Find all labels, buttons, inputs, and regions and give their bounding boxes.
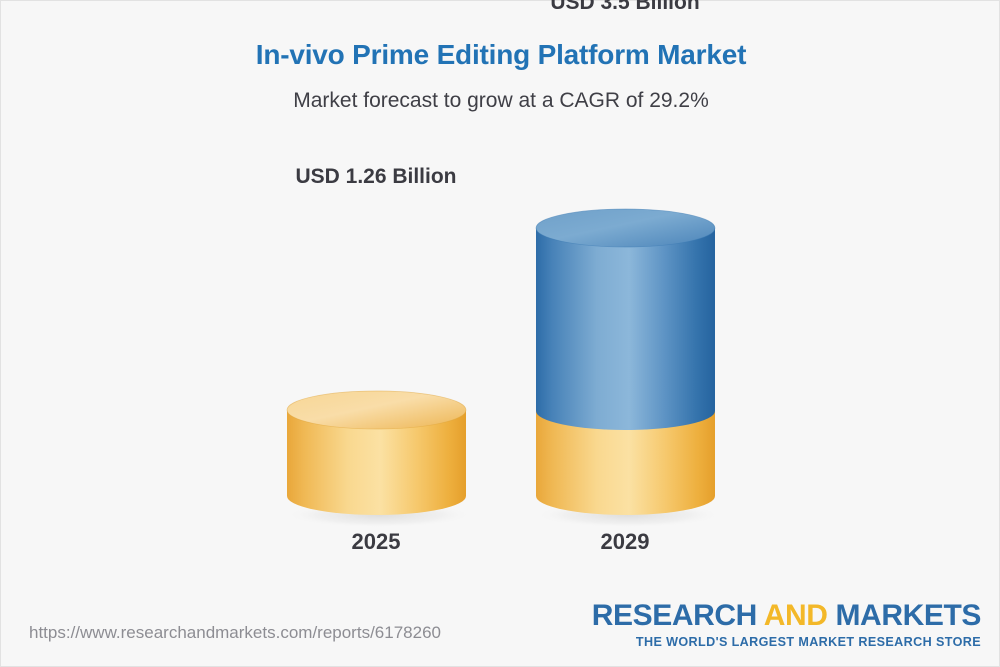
value-label-2029: USD 3.5 Billion [480,0,770,15]
value-label-2025: USD 1.26 Billion [231,165,521,189]
logo-word-and: AND [764,599,836,632]
chart-canvas: In-vivo Prime Editing Platform Market Ma… [0,0,1000,667]
logo-word-markets: MARKETS [835,599,981,632]
logo-word-research: RESEARCH [592,599,764,632]
bar-cylinder-2029 [536,209,715,515]
category-label-2029: 2029 [480,529,770,555]
logo-tagline: THE WORLD'S LARGEST MARKET RESEARCH STOR… [592,635,981,649]
category-label-2025: 2025 [231,529,521,555]
bar-cylinder-2025 [287,391,466,515]
brand-logo[interactable]: RESEARCH AND MARKETS THE WORLD'S LARGEST… [592,601,981,649]
logo-wordmark: RESEARCH AND MARKETS [592,601,981,632]
source-url[interactable]: https://www.researchandmarkets.com/repor… [29,623,441,643]
chart-plot-area: USD 1.26 Billion [1,1,1000,601]
